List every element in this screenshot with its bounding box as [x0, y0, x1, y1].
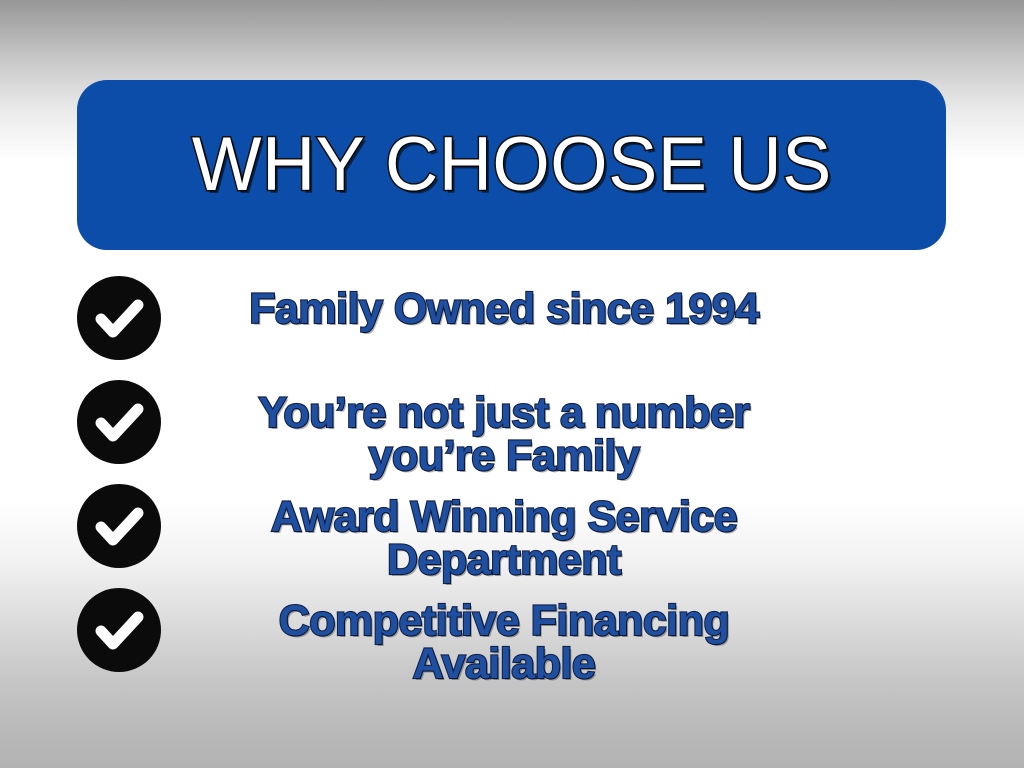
list-item-line1: Family Owned since 1994 [249, 285, 759, 333]
list-item: Family Owned since 1994 [77, 276, 877, 360]
list-item: Competitive Financing Available [77, 588, 877, 686]
slide-canvas: WHY CHOOSE US Family Owned since 1994 Yo… [0, 0, 1024, 768]
list-item-text: Award Winning Service Department [161, 484, 877, 582]
list-item-text: Family Owned since 1994 [161, 276, 877, 331]
list-item-text: You’re not just a number you’re Family [161, 380, 877, 478]
check-circle-icon [77, 484, 161, 568]
list-item-line2: you’re Family [161, 435, 847, 478]
check-circle-icon [77, 380, 161, 464]
list-item-line2: Available [161, 643, 847, 686]
list-item-line1: Competitive Financing [279, 597, 730, 645]
list-item: You’re not just a number you’re Family [77, 380, 877, 478]
header-banner: WHY CHOOSE US [77, 80, 946, 250]
page-title: WHY CHOOSE US [192, 127, 832, 203]
check-circle-icon [77, 276, 161, 360]
list-item-text: Competitive Financing Available [161, 588, 877, 686]
check-circle-icon [77, 588, 161, 672]
list-item: Award Winning Service Department [77, 484, 877, 582]
list-item-line1: You’re not just a number [258, 389, 749, 437]
list-item-line2: Department [161, 539, 847, 582]
list-item-line1: Award Winning Service [271, 493, 737, 541]
benefits-list: Family Owned since 1994 You’re not just … [77, 276, 877, 696]
